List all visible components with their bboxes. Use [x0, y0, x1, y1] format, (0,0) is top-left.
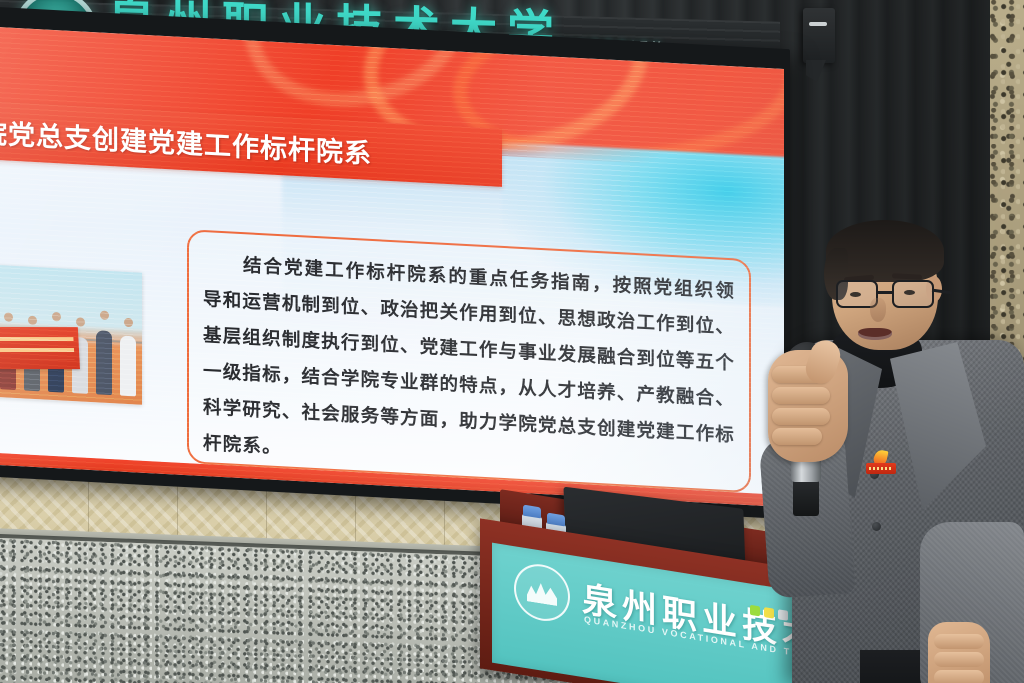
- photo-scene: 泉州职业技术大学 QUANZHOU VOCATIONAL AND TECHNIC…: [0, 0, 1024, 683]
- banner-text-lines: [0, 337, 74, 359]
- speaker-right-hand: [928, 622, 990, 683]
- speaker-mouth: [858, 328, 892, 340]
- jacket-button: [872, 522, 881, 531]
- speaker-lapel-right: [890, 342, 986, 510]
- flame-lapel-badge-icon: [866, 450, 896, 476]
- speaker-eyebrow: [892, 273, 922, 280]
- led-display-screen: 学院党总支创建党建工作标杆院系: [0, 6, 790, 519]
- university-seal-icon: [514, 560, 570, 625]
- speaker-person: [770, 222, 1024, 683]
- speaker-hand-holding-mic: [768, 350, 848, 462]
- microphone-base: [793, 476, 819, 516]
- photo-party-banner: [0, 327, 80, 369]
- wall-speaker-device: [803, 8, 835, 63]
- speaker-turtleneck: [834, 326, 920, 366]
- screen-surface: 学院党总支创建党建工作标杆院系: [0, 26, 784, 507]
- indicator-green-icon: [750, 605, 760, 617]
- speaker-hair: [826, 220, 944, 282]
- slide-body-textbox: 结合党建工作标杆院系的重点任务指南，按照党组织领导和运营机制到位、政治把关作用到…: [187, 229, 751, 493]
- slide-group-photo: [0, 263, 142, 405]
- slide-body-text: 结合党建工作标杆院系的重点任务指南，按照党组织领导和运营机制到位、政治把关作用到…: [189, 231, 749, 491]
- eyeglasses-icon: [836, 280, 940, 310]
